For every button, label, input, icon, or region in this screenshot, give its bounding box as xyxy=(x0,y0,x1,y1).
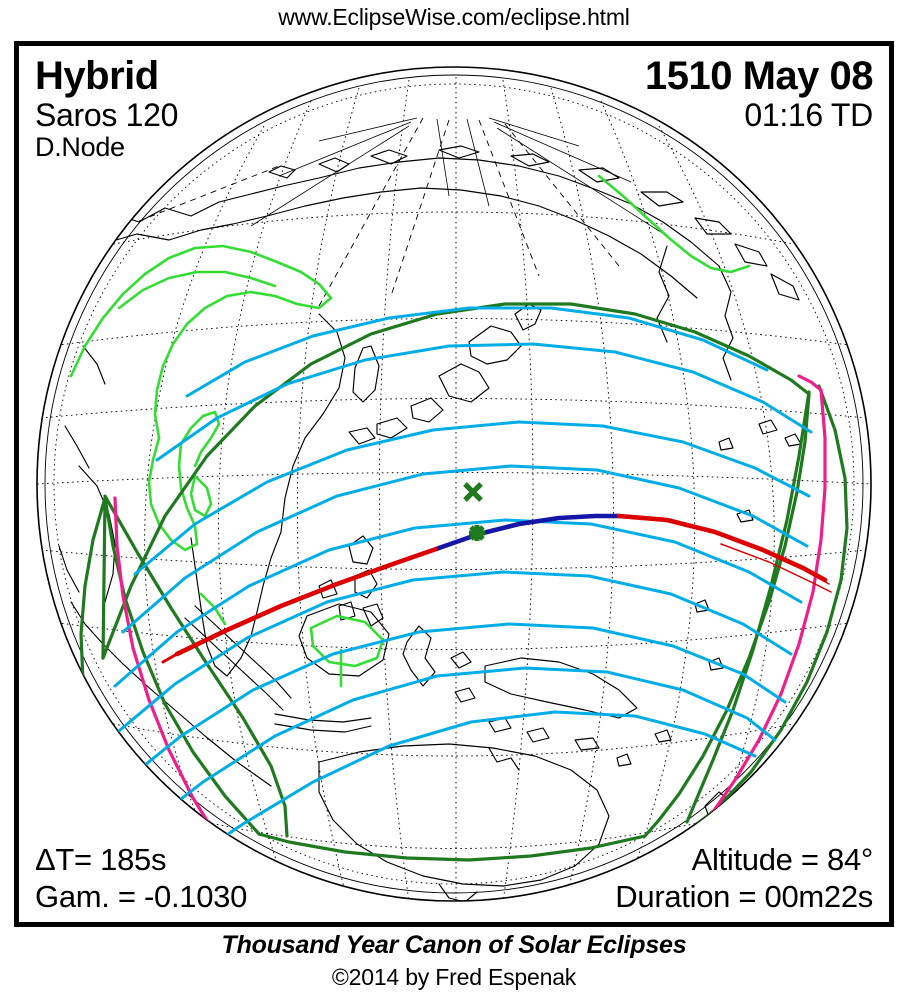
globe-container xyxy=(19,46,889,922)
eclipse-time: 01:16 TD xyxy=(645,99,873,131)
saros-number: Saros 120 xyxy=(35,99,178,131)
eclipse-summary-left: Hybrid Saros 120 D.Node xyxy=(35,56,178,161)
copyright-notice: ©2014 by Fred Espenak xyxy=(0,964,908,991)
map-frame: Hybrid Saros 120 D.Node 1510 May 08 01:1… xyxy=(14,41,894,927)
globe-svg xyxy=(19,46,889,922)
canon-title: Thousand Year Canon of Solar Eclipses xyxy=(0,931,908,960)
eclipse-map-page: www.EclipseWise.com/eclipse.html xyxy=(0,0,908,1004)
footer: Thousand Year Canon of Solar Eclipses ©2… xyxy=(0,931,908,991)
eclipse-date: 1510 May 08 xyxy=(645,56,873,96)
source-url: www.EclipseWise.com/eclipse.html xyxy=(0,4,908,31)
eclipse-type: Hybrid xyxy=(35,56,178,96)
eclipse-summary-right: 1510 May 08 01:16 TD xyxy=(645,56,873,131)
subsolar-asterisk-core xyxy=(472,528,482,538)
duration-value: Duration = 00m22s xyxy=(615,881,873,912)
gamma-value: Gam. = -0.1030 xyxy=(35,881,247,912)
eclipse-stats-left: ΔT= 185s Gam. = -0.1030 xyxy=(35,844,247,912)
node-type: D.Node xyxy=(35,134,178,161)
eclipse-stats-right: Altitude = 84° Duration = 00m22s xyxy=(615,844,873,912)
altitude-value: Altitude = 84° xyxy=(615,844,873,875)
delta-t-value: ΔT= 185s xyxy=(35,844,247,875)
